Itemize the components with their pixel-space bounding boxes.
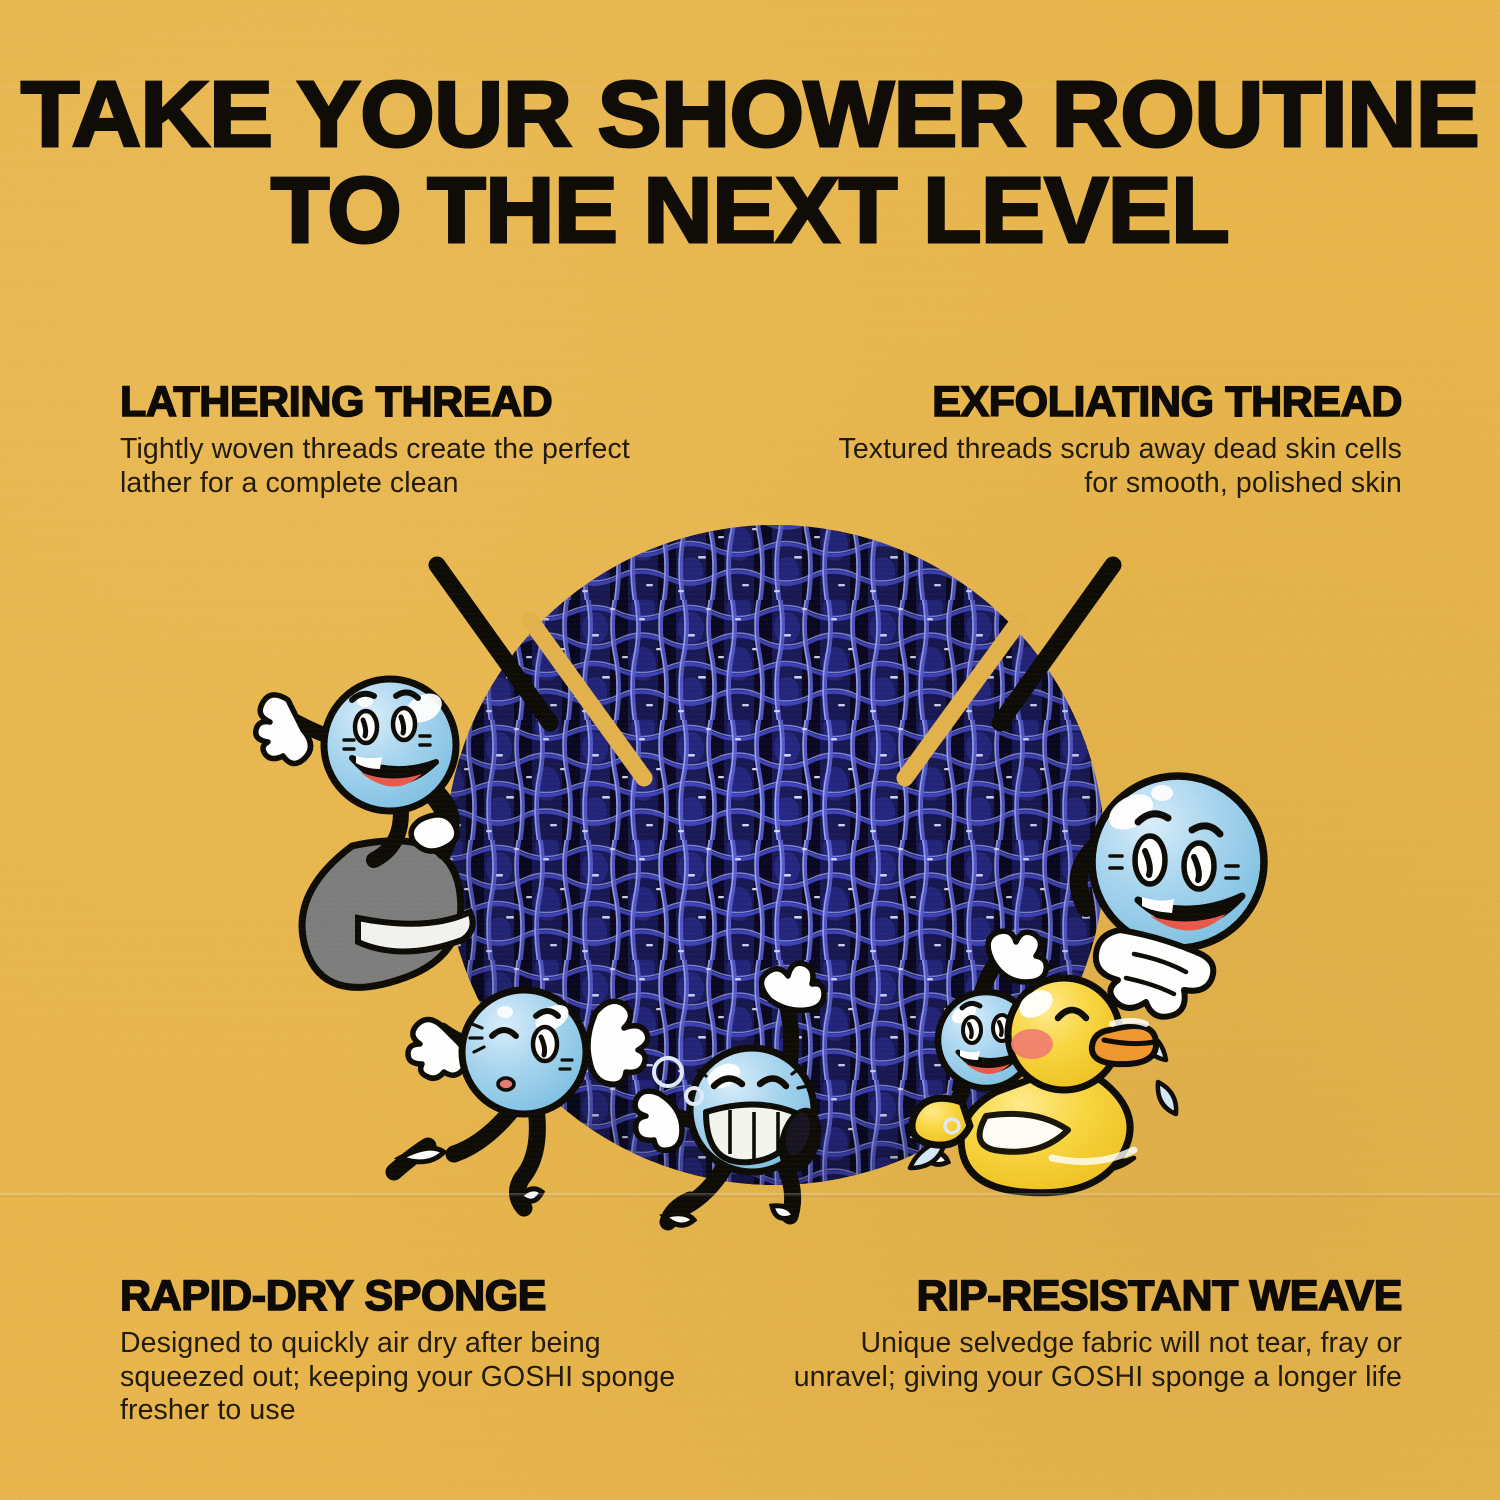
feature-rapid-dry-sponge: RAPID-DRY SPONGE Designed to quickly air… [120,1272,680,1428]
bubble-character-resting [1079,776,1264,1017]
page-title: TAKE YOUR SHOWER ROUTINE TO THE NEXT LEV… [0,72,1500,253]
feature-title: RAPID-DRY SPONGE [120,1272,680,1321]
glove-icon [411,815,457,851]
bubble-character-waving [256,679,473,987]
headline-line-1: TAKE YOUR SHOWER ROUTINE [0,72,1500,158]
feature-body: Unique selvedge fabric will not tear, fr… [792,1327,1402,1394]
feature-body: Textured threads scrub away dead skin ce… [802,433,1402,500]
glove-icon [761,963,824,1010]
grey-sponge [302,841,473,988]
glove-icon [408,1019,467,1078]
feature-title: EXFOLIATING THREAD [802,378,1402,427]
infographic-canvas: TAKE YOUR SHOWER ROUTINE TO THE NEXT LEV… [0,0,1500,1500]
feature-title: RIP-RESISTANT WEAVE [792,1272,1402,1321]
feature-exfoliating-thread: EXFOLIATING THREAD Textured threads scru… [802,378,1402,500]
feature-title: LATHERING THREAD [120,378,680,427]
headline-line-2: TO THE NEXT LEVEL [0,168,1500,254]
feature-rip-resistant-weave: RIP-RESISTANT WEAVE Unique selvedge fabr… [792,1272,1402,1394]
feature-body: Designed to quickly air dry after being … [120,1327,680,1428]
feature-lathering-thread: LATHERING THREAD Tightly woven threads c… [120,378,680,500]
glove-icon [256,695,311,764]
feature-body: Tightly woven threads create the perfect… [120,433,680,500]
